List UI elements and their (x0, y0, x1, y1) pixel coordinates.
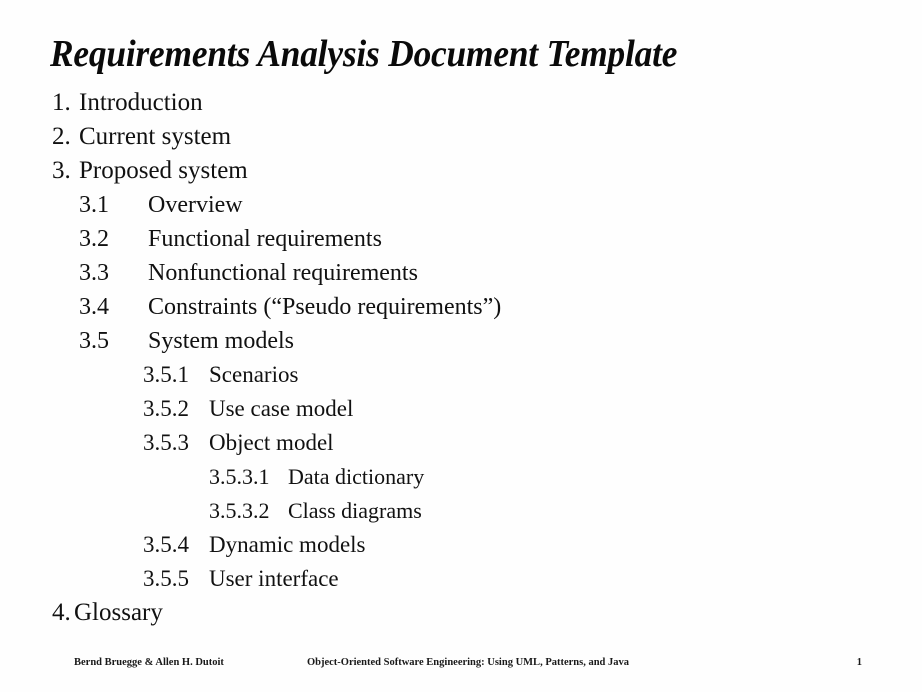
outline-item: 3.2Functional requirements (0, 222, 922, 256)
outline-item: 3.4Constraints (“Pseudo requirements”) (0, 290, 922, 324)
slide-footer: Bernd Bruegge & Allen H. Dutoit Object-O… (0, 640, 922, 692)
outline-item: 1.Introduction (0, 86, 922, 120)
outline-item: 3.5.3.1Data dictionary (0, 460, 922, 494)
outline-item-label: Proposed system (79, 154, 248, 188)
outline-item-number: 2. (52, 120, 79, 154)
outline-item: 3.5.3.2Class diagrams (0, 494, 922, 528)
footer-book-title: Object-Oriented Software Engineering: Us… (74, 656, 862, 670)
outline-item-number: 1. (52, 86, 79, 120)
outline-item: 2.Current system (0, 120, 922, 154)
outline-item-number: 3.5.3.1 (209, 460, 288, 494)
outline-item: 3.5.5User interface (0, 562, 922, 596)
outline-item-number: 3. (52, 154, 79, 188)
footer-page-number: 1 (857, 656, 862, 670)
outline-item-number: 3.2 (79, 222, 148, 256)
outline-item-number: 3.5.5 (143, 562, 209, 596)
outline-item-label: Scenarios (209, 358, 298, 392)
outline-item-label: System models (148, 324, 294, 358)
outline-list: 1.Introduction2.Current system3.Proposed… (0, 86, 922, 630)
outline-item-label: Class diagrams (288, 494, 422, 528)
outline-item-number: 3.4 (79, 290, 148, 324)
page-title: Requirements Analysis Document Template (50, 31, 822, 77)
outline-item-number: 3.5.3 (143, 426, 209, 460)
outline-item-label: Nonfunctional requirements (148, 256, 418, 290)
outline-item-number: 3.5 (79, 324, 148, 358)
outline-item-number: 4. (52, 596, 74, 630)
outline-item: 4.Glossary (0, 596, 922, 630)
outline-item: 3.5.2Use case model (0, 392, 922, 426)
outline-item: 3.3Nonfunctional requirements (0, 256, 922, 290)
outline-item-label: Introduction (79, 86, 203, 120)
outline-item: 3.Proposed system (0, 154, 922, 188)
outline-item-label: Current system (79, 120, 231, 154)
outline-item-label: Overview (148, 188, 243, 222)
outline-item: 3.5.4Dynamic models (0, 528, 922, 562)
outline-item-label: Glossary (74, 596, 163, 630)
outline-item-label: Use case model (209, 392, 353, 426)
slide: Requirements Analysis Document Template … (0, 0, 922, 692)
outline-item-label: Object model (209, 426, 334, 460)
outline-item-label: User interface (209, 562, 339, 596)
outline-item-label: Data dictionary (288, 460, 424, 494)
outline-item-label: Dynamic models (209, 528, 366, 562)
outline-item-number: 3.5.1 (143, 358, 209, 392)
outline-item: 3.1Overview (0, 188, 922, 222)
outline-item-number: 3.1 (79, 188, 148, 222)
outline-item-label: Constraints (“Pseudo requirements”) (148, 290, 501, 324)
outline-item: 3.5.3Object model (0, 426, 922, 460)
outline-item-number: 3.5.3.2 (209, 494, 288, 528)
outline-item-number: 3.5.2 (143, 392, 209, 426)
outline-item: 3.5System models (0, 324, 922, 358)
outline-item: 3.5.1Scenarios (0, 358, 922, 392)
outline-item-number: 3.5.4 (143, 528, 209, 562)
outline-item-number: 3.3 (79, 256, 148, 290)
outline-item-label: Functional requirements (148, 222, 382, 256)
